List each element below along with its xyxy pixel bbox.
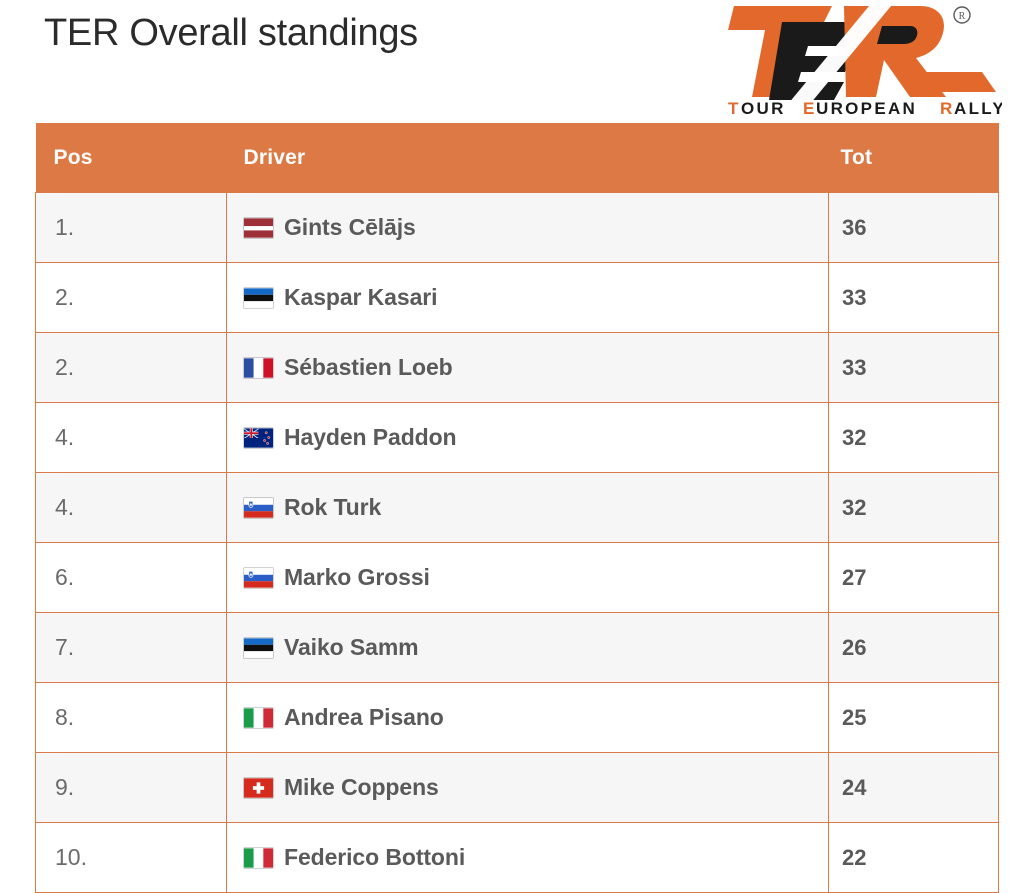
cell-total: 26 [829,613,999,683]
column-header-driver[interactable]: Driver [227,123,829,193]
cell-position: 4. [36,403,227,473]
cell-total: 33 [829,333,999,403]
table-row[interactable]: 2.Kaspar Kasari33 [36,263,999,333]
driver-name: Gints Cēlājs [284,214,416,241]
cell-position: 6. [36,543,227,613]
italy-flag [244,848,273,868]
cell-driver: Mike Coppens [227,753,829,823]
cell-driver: Andrea Pisano [227,683,829,753]
svg-text:E: E [803,99,817,118]
france-flag [244,358,273,378]
slovenia-flag [244,498,273,518]
driver-cell: Hayden Paddon [244,424,828,451]
driver-cell: Andrea Pisano [244,704,828,731]
svg-text:R: R [959,11,966,22]
estonia-flag [244,288,273,308]
cell-total: 32 [829,473,999,543]
table-header-row: Pos Driver Tot [36,123,999,193]
cell-total: 36 [829,193,999,263]
driver-cell: Marko Grossi [244,564,828,591]
driver-cell: Federico Bottoni [244,844,828,871]
svg-text:ALLY: ALLY [954,99,1002,118]
cell-driver: Marko Grossi [227,543,829,613]
cell-position: 8. [36,683,227,753]
cell-total: 22 [829,823,999,893]
cell-position: 9. [36,753,227,823]
driver-name: Mike Coppens [284,774,439,801]
svg-text:R: R [940,99,955,118]
cell-position: 7. [36,613,227,683]
table-row[interactable]: 4.Hayden Paddon32 [36,403,999,473]
driver-cell: Mike Coppens [244,774,828,801]
svg-text:T: T [728,99,741,118]
svg-text:UROPEAN: UROPEAN [816,99,917,118]
driver-name: Kaspar Kasari [284,284,437,311]
cell-driver: Gints Cēlājs [227,193,829,263]
driver-name: Andrea Pisano [284,704,444,731]
ter-logo: R TOUR EUROPEAN RALLY [724,0,1002,118]
cell-total: 25 [829,683,999,753]
latvia-flag [244,218,273,238]
slovenia-flag [244,568,273,588]
cell-driver: Federico Bottoni [227,823,829,893]
column-header-pos[interactable]: Pos [36,123,227,193]
column-header-tot[interactable]: Tot [829,123,999,193]
table-row[interactable]: 2.Sébastien Loeb33 [36,333,999,403]
table-row[interactable]: 7.Vaiko Samm26 [36,613,999,683]
cell-total: 27 [829,543,999,613]
driver-name: Rok Turk [284,494,381,521]
driver-name: Vaiko Samm [284,634,419,661]
logo-swoosh-shape [920,72,996,92]
table-row[interactable]: 8.Andrea Pisano25 [36,683,999,753]
cell-driver: Vaiko Samm [227,613,829,683]
driver-cell: Vaiko Samm [244,634,828,661]
table-row[interactable]: 6.Marko Grossi27 [36,543,999,613]
cell-total: 32 [829,403,999,473]
driver-name: Hayden Paddon [284,424,457,451]
cell-driver: Kaspar Kasari [227,263,829,333]
standings-table: Pos Driver Tot 1.Gints Cēlājs362.Kaspar … [35,123,999,893]
table-row[interactable]: 4.Rok Turk32 [36,473,999,543]
svg-text:OUR: OUR [741,99,786,118]
driver-cell: Rok Turk [244,494,828,521]
cell-driver: Sébastien Loeb [227,333,829,403]
table-row[interactable]: 10.Federico Bottoni22 [36,823,999,893]
table-row[interactable]: 9.Mike Coppens24 [36,753,999,823]
cell-driver: Hayden Paddon [227,403,829,473]
cell-position: 10. [36,823,227,893]
switzerland-flag [244,778,273,798]
driver-name: Sébastien Loeb [284,354,453,381]
driver-name: Marko Grossi [284,564,430,591]
cell-position: 2. [36,263,227,333]
page-header: TER Overall standings R TOUR EUROPEAN RA… [0,0,1024,123]
standings-table-container: Pos Driver Tot 1.Gints Cēlājs362.Kaspar … [35,123,998,893]
table-body: 1.Gints Cēlājs362.Kaspar Kasari332.Sébas… [36,193,999,893]
table-header: Pos Driver Tot [36,123,999,193]
page-title: TER Overall standings [44,12,418,55]
new-zealand-flag [244,428,273,448]
driver-cell: Gints Cēlājs [244,214,828,241]
table-row[interactable]: 1.Gints Cēlājs36 [36,193,999,263]
estonia-flag [244,638,273,658]
cell-driver: Rok Turk [227,473,829,543]
driver-cell: Sébastien Loeb [244,354,828,381]
driver-cell: Kaspar Kasari [244,284,828,311]
cell-position: 2. [36,333,227,403]
italy-flag [244,708,273,728]
driver-name: Federico Bottoni [284,844,465,871]
cell-position: 4. [36,473,227,543]
cell-total: 33 [829,263,999,333]
cell-total: 24 [829,753,999,823]
cell-position: 1. [36,193,227,263]
